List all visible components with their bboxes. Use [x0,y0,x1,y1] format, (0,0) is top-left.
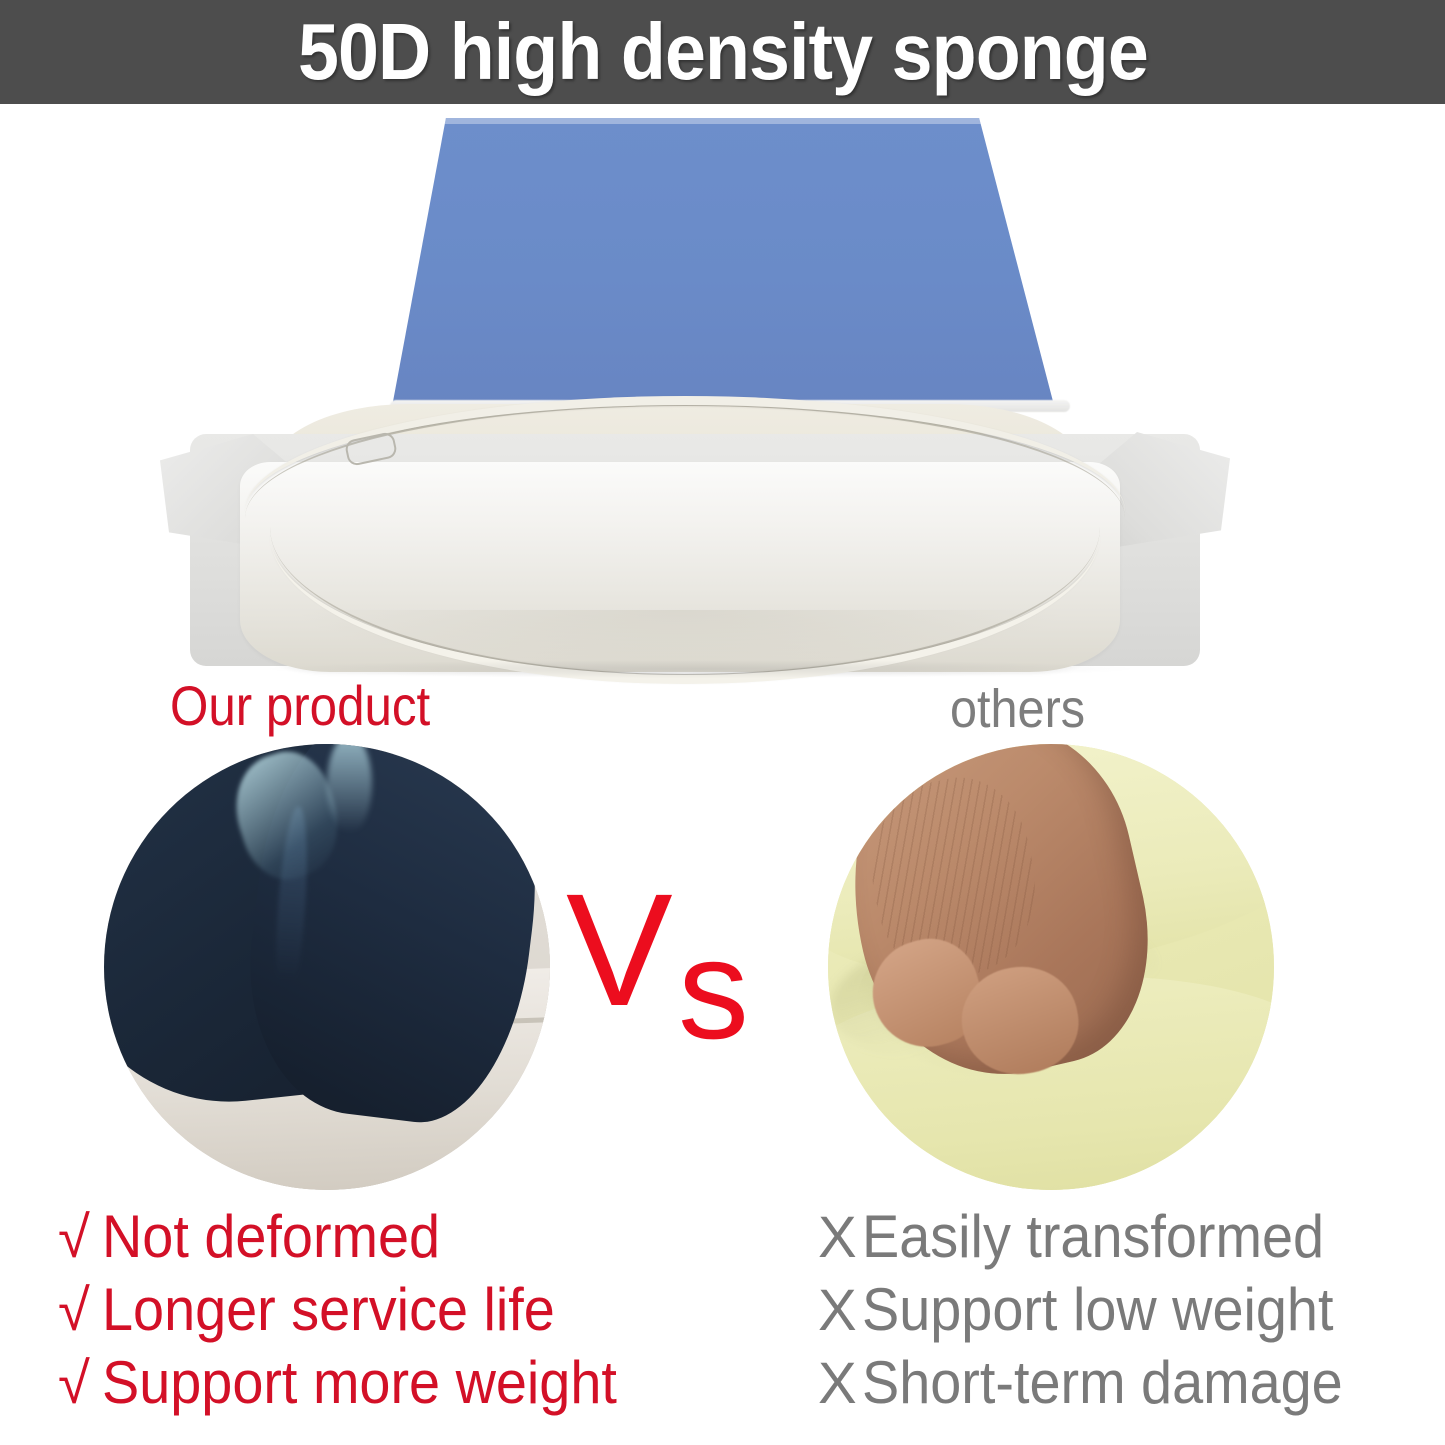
product-infographic: 50D high density sponge Our product othe… [0,0,1445,1445]
feature-item: √ Not deformed [58,1200,656,1273]
check-icon: √ [58,1201,102,1274]
cross-icon: X [818,1201,862,1274]
feature-item: √ Support more weight [58,1346,656,1419]
cushion-illustration [150,104,1300,680]
hero-product-image [150,104,1300,680]
versus-v: V [566,880,673,1020]
versus-s: s [678,926,749,1054]
feature-item: X Short-term damage [818,1346,1379,1419]
cross-icon: X [818,1347,862,1420]
feature-label: Short-term damage [862,1346,1343,1419]
versus-mark: V s [566,880,786,1070]
feature-label: Easily transformed [862,1200,1324,1273]
our-product-photo [104,744,550,1190]
feature-label: Support more weight [102,1346,617,1419]
page-title: 50D high density sponge [298,12,1148,92]
check-icon: √ [58,1274,102,1347]
jeans-highlight-secondary [327,744,372,833]
feature-item: X Easily transformed [818,1200,1379,1273]
feature-label: Support low weight [862,1273,1333,1346]
cross-icon: X [818,1274,862,1347]
others-product-photo [828,744,1274,1190]
others-label: others [950,682,1085,736]
our-product-label: Our product [170,678,430,734]
check-icon: √ [58,1347,102,1420]
header-banner: 50D high density sponge [0,0,1445,104]
feature-label: Not deformed [102,1200,440,1273]
cushion-blue-cover [280,118,1070,406]
others-feature-list: X Easily transformed X Support low weigh… [818,1200,1379,1419]
our-product-feature-list: √ Not deformed √ Longer service life √ S… [58,1200,656,1419]
feature-item: X Support low weight [818,1273,1379,1346]
feature-item: √ Longer service life [58,1273,656,1346]
feature-label: Longer service life [102,1273,555,1346]
